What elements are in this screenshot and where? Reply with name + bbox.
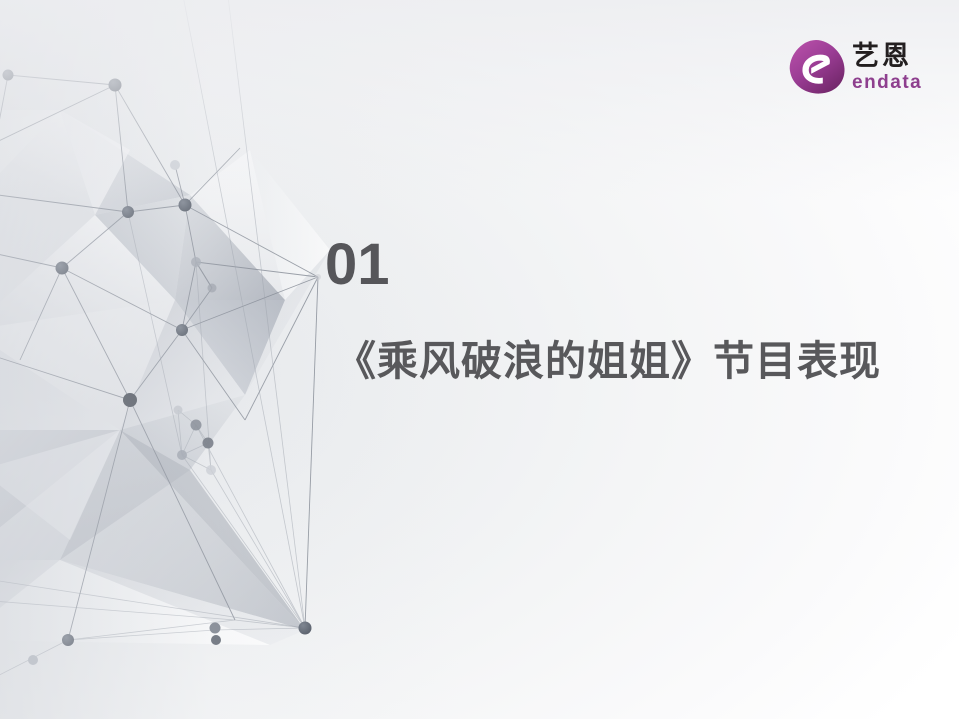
endata-e-mark-icon [788, 39, 846, 95]
logo-wordmark: 艺恩 endata [852, 43, 922, 92]
endata-logo: 艺恩 endata [788, 36, 928, 98]
slide-canvas: 艺恩 endata 01 《乘风破浪的姐姐》节目表现 [0, 0, 959, 719]
logo-english-name: endata [852, 73, 922, 92]
section-number: 01 [325, 236, 925, 294]
section-title: 《乘风破浪的姐姐》节目表现 [335, 338, 925, 385]
headline-block: 01 《乘风破浪的姐姐》节目表现 [325, 236, 925, 385]
logo-chinese-name: 艺恩 [852, 43, 922, 70]
